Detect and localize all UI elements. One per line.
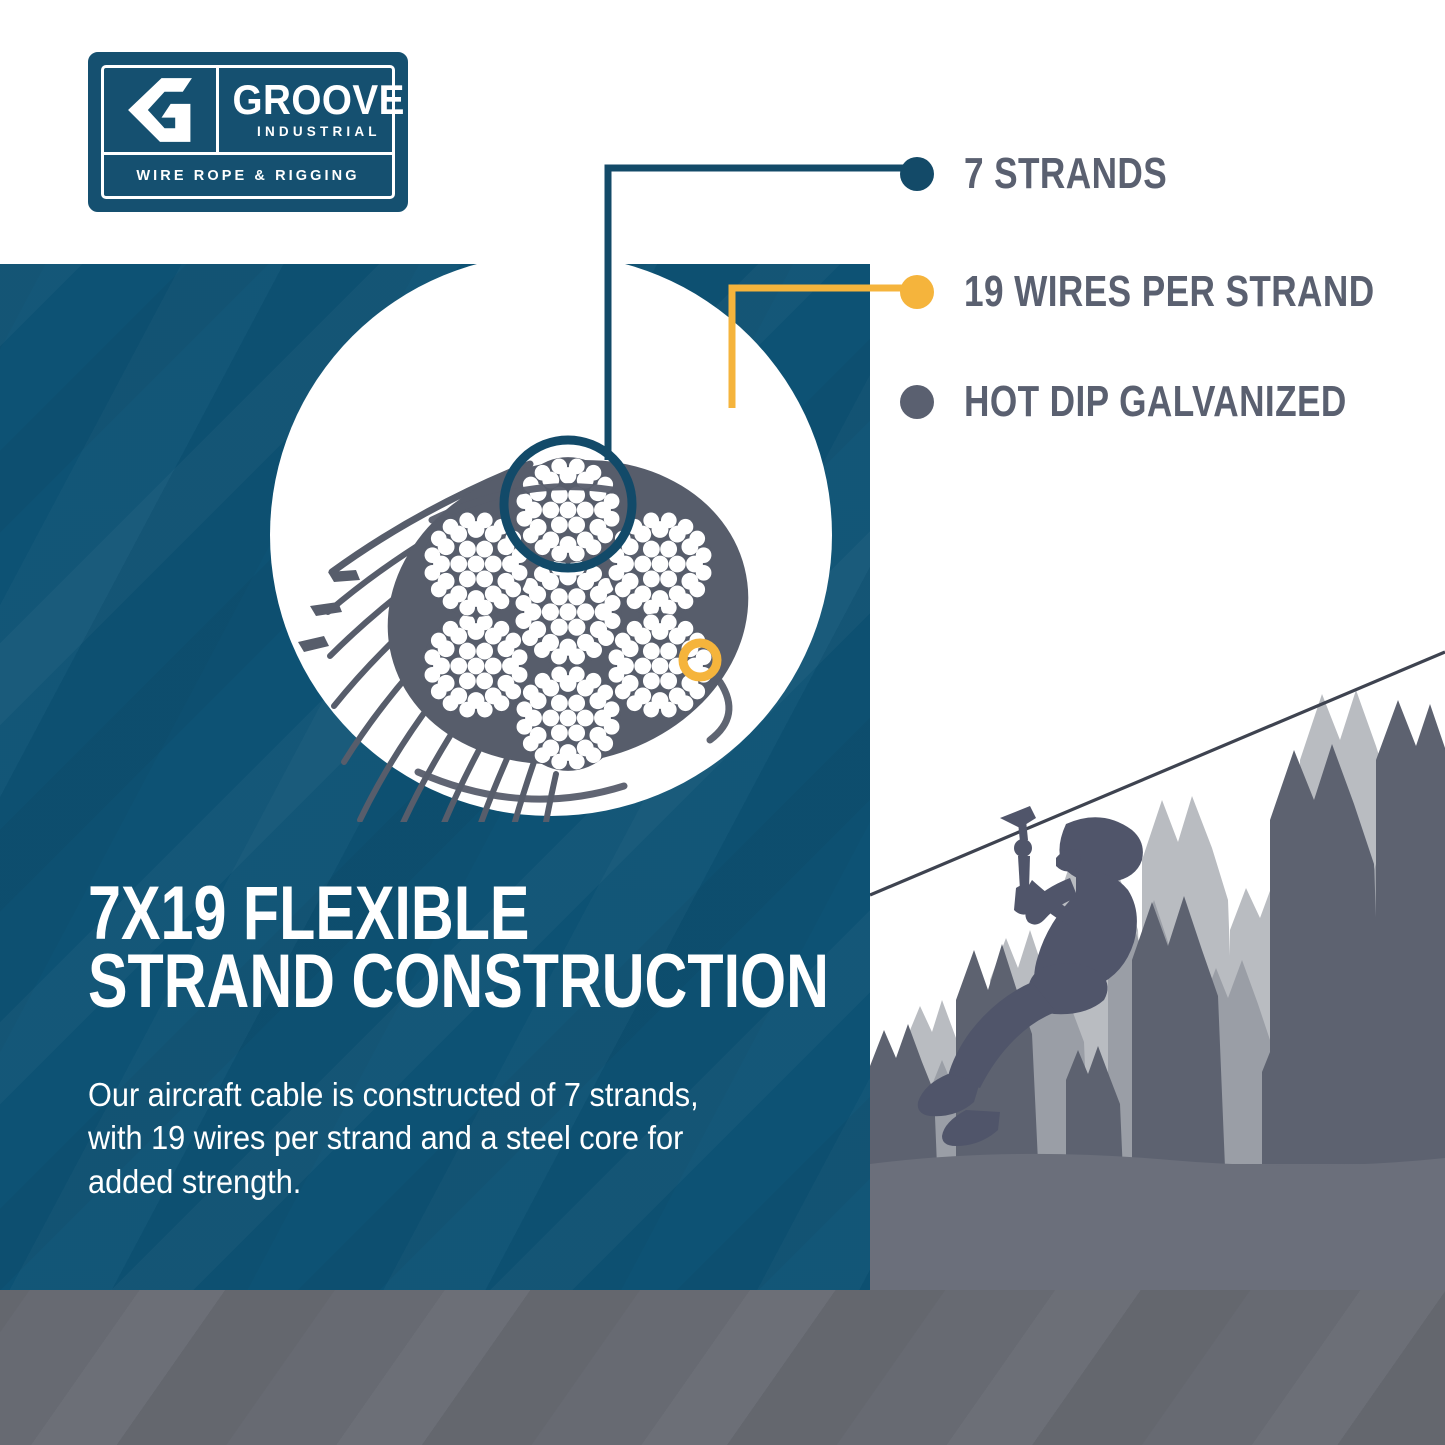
brand-name: GROOVE	[233, 81, 405, 120]
navy-dot-icon	[900, 157, 934, 191]
callout-label: 7 STRANDS	[964, 152, 1167, 196]
logo-bottom-row: WIRE ROPE & RIGGING	[104, 155, 392, 196]
gray-dot-icon	[900, 385, 934, 419]
callout-label: 19 WIRES PER STRAND	[964, 270, 1375, 314]
navy-leader-line	[608, 168, 918, 460]
amber-dot-icon	[900, 275, 934, 309]
callout-item-19-wires-per-strand[interactable]: 19 WIRES PER STRAND	[900, 270, 1445, 314]
callout-item-hot-dip-galvanized[interactable]: HOT DIP GALVANIZED	[900, 380, 1442, 424]
body-copy: Our aircraft cable is constructed of 7 s…	[88, 1073, 739, 1204]
logo-wordmark: GROOVE INDUSTRIAL	[219, 68, 418, 152]
callout-item-7-strands[interactable]: 7 STRANDS	[900, 152, 1218, 196]
brand-tagline: WIRE ROPE & RIGGING	[136, 168, 359, 184]
brand-subname: INDUSTRIAL	[257, 124, 381, 139]
headline-block: 7X19 FLEXIBLE STRAND CONSTRUCTION Our ai…	[88, 880, 828, 1203]
logo-top-row: GROOVE INDUSTRIAL	[104, 68, 392, 155]
bottom-bar	[0, 1290, 1445, 1445]
poster-canvas: 7 STRANDS 19 WIRES PER STRAND HOT DIP GA…	[0, 0, 1445, 1445]
g-hexagon-icon	[122, 72, 198, 148]
logo-inner-frame: GROOVE INDUSTRIAL WIRE ROPE & RIGGING	[101, 65, 395, 199]
headline-line-2: STRAND CONSTRUCTION	[88, 948, 665, 1016]
callout-label: HOT DIP GALVANIZED	[964, 380, 1347, 424]
groove-g-mark-icon	[104, 68, 219, 152]
amber-leader-line	[732, 288, 918, 408]
logo-frame: GROOVE INDUSTRIAL WIRE ROPE & RIGGING	[88, 52, 408, 212]
page-title: 7X19 FLEXIBLE STRAND CONSTRUCTION	[88, 880, 665, 1017]
brand-logo[interactable]: GROOVE INDUSTRIAL WIRE ROPE & RIGGING	[88, 52, 408, 212]
